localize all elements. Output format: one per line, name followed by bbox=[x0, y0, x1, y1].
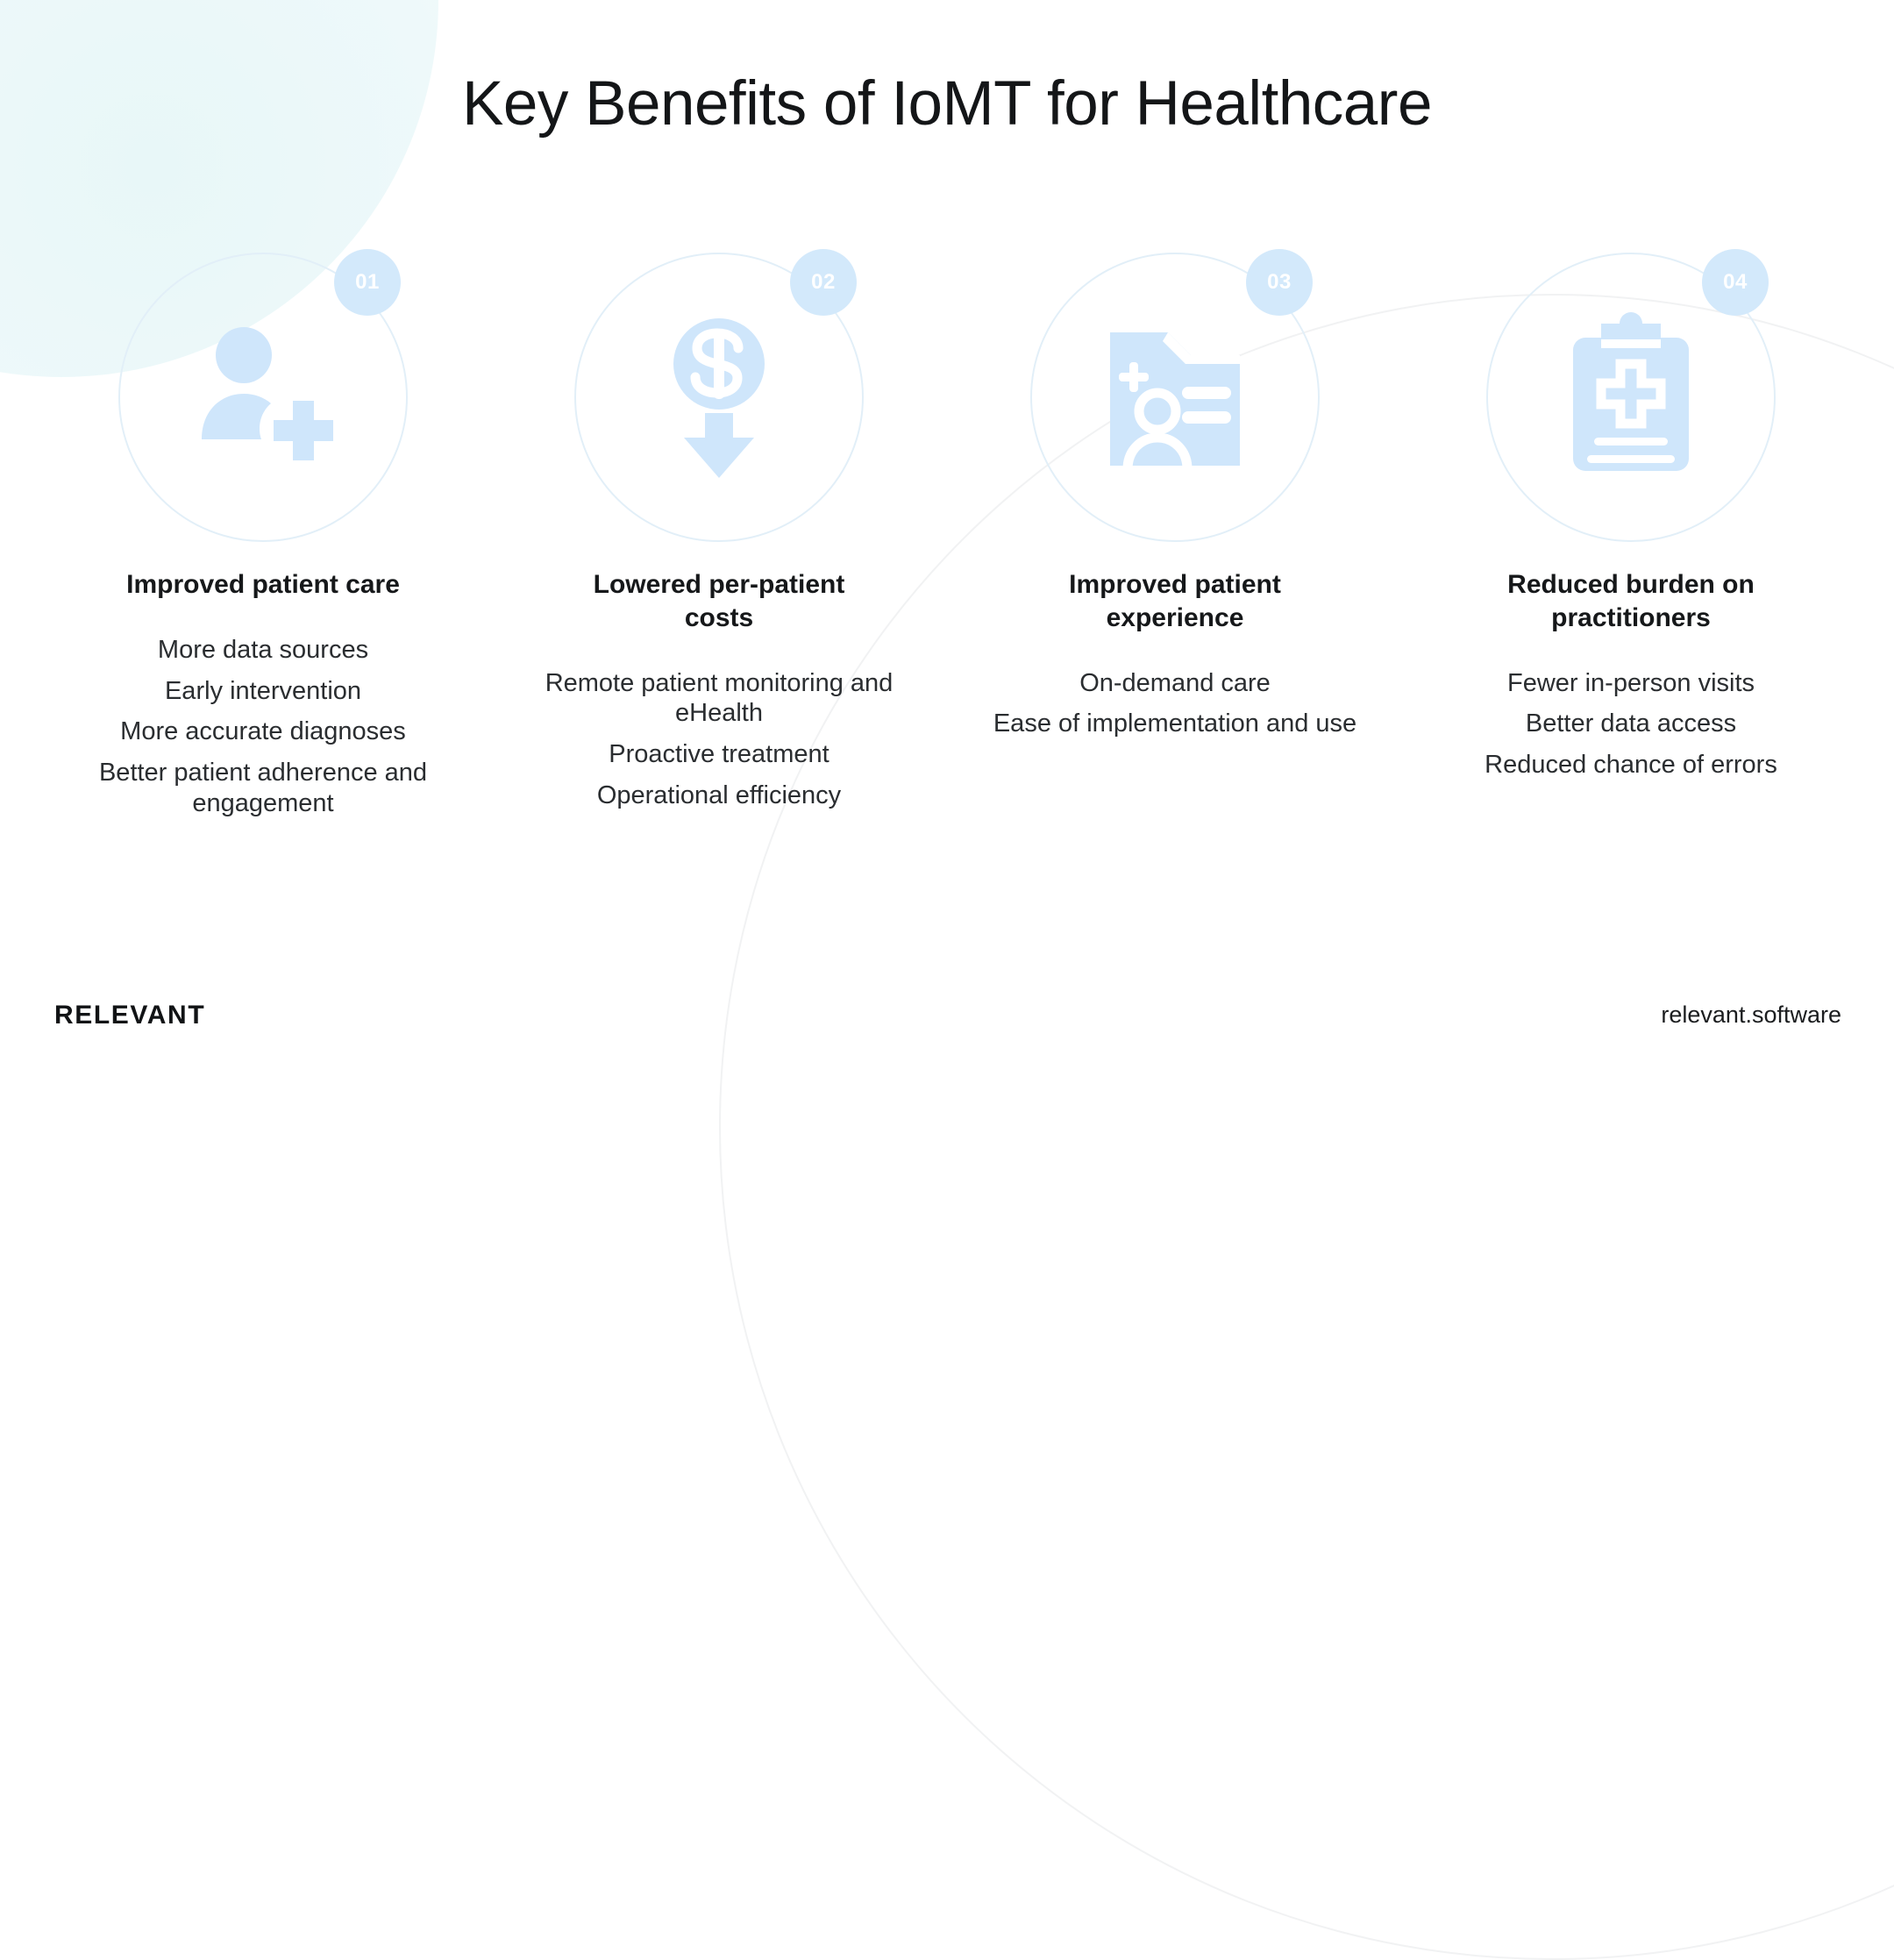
list-item: Early intervention bbox=[70, 676, 456, 707]
benefit-bullets-1: More data sources Early intervention Mor… bbox=[70, 635, 456, 819]
list-item: Better data access bbox=[1485, 709, 1777, 739]
benefit-heading-4: Reduced burden on practitioners bbox=[1486, 568, 1776, 635]
list-item: Remote patient monitoring and eHealth bbox=[508, 668, 930, 730]
benefit-card-3: 03 Improved pat bbox=[947, 253, 1403, 739]
medical-clipboard-icon bbox=[1543, 310, 1719, 485]
patient-plus-icon bbox=[175, 310, 351, 485]
brand-logo: RELEVANT bbox=[54, 1001, 205, 1030]
list-item: Operational efficiency bbox=[508, 780, 930, 811]
page-title: Key Benefits of IoMT for Healthcare bbox=[0, 68, 1894, 139]
footer-website-url: relevant.software bbox=[1661, 1001, 1841, 1029]
benefit-medallion-3: 03 bbox=[1030, 253, 1320, 542]
benefit-number-badge-4: 04 bbox=[1702, 249, 1769, 316]
benefit-card-2: 02 Lowered per-patient costs Remote pati… bbox=[491, 253, 947, 811]
list-item: More data sources bbox=[70, 635, 456, 666]
list-item: More accurate diagnoses bbox=[70, 716, 456, 747]
benefit-bullets-4: Fewer in-person visits Better data acces… bbox=[1485, 668, 1777, 780]
list-item: On-demand care bbox=[993, 668, 1356, 699]
benefit-heading-1: Improved patient care bbox=[126, 568, 400, 602]
list-item: Proactive treatment bbox=[508, 739, 930, 770]
benefit-card-4: 04 Reduced burden on practitione bbox=[1403, 253, 1859, 780]
benefit-medallion-1: 01 bbox=[118, 253, 408, 542]
benefit-card-1: 01 Improved patient care More data sourc… bbox=[35, 253, 491, 819]
benefit-number-badge-3: 03 bbox=[1246, 249, 1313, 316]
benefit-medallion-2: 02 bbox=[574, 253, 864, 542]
benefits-columns: 01 Improved patient care More data sourc… bbox=[35, 253, 1859, 819]
benefit-heading-2: Lowered per-patient costs bbox=[574, 568, 864, 635]
list-item: Fewer in-person visits bbox=[1485, 668, 1777, 699]
benefit-bullets-2: Remote patient monitoring and eHealth Pr… bbox=[508, 668, 930, 811]
list-item: Better patient adherence and engagement bbox=[70, 758, 456, 819]
benefit-medallion-4: 04 bbox=[1486, 253, 1776, 542]
list-item: Reduced chance of errors bbox=[1485, 750, 1777, 780]
list-item: Ease of implementation and use bbox=[993, 709, 1356, 739]
benefit-bullets-3: On-demand care Ease of implementation an… bbox=[993, 668, 1356, 740]
medical-record-card-icon bbox=[1087, 310, 1263, 485]
benefit-number-badge-1: 01 bbox=[334, 249, 401, 316]
cost-down-dollar-icon bbox=[631, 310, 807, 485]
benefit-number-badge-2: 02 bbox=[790, 249, 857, 316]
benefit-heading-3: Improved patient experience bbox=[1030, 568, 1320, 635]
